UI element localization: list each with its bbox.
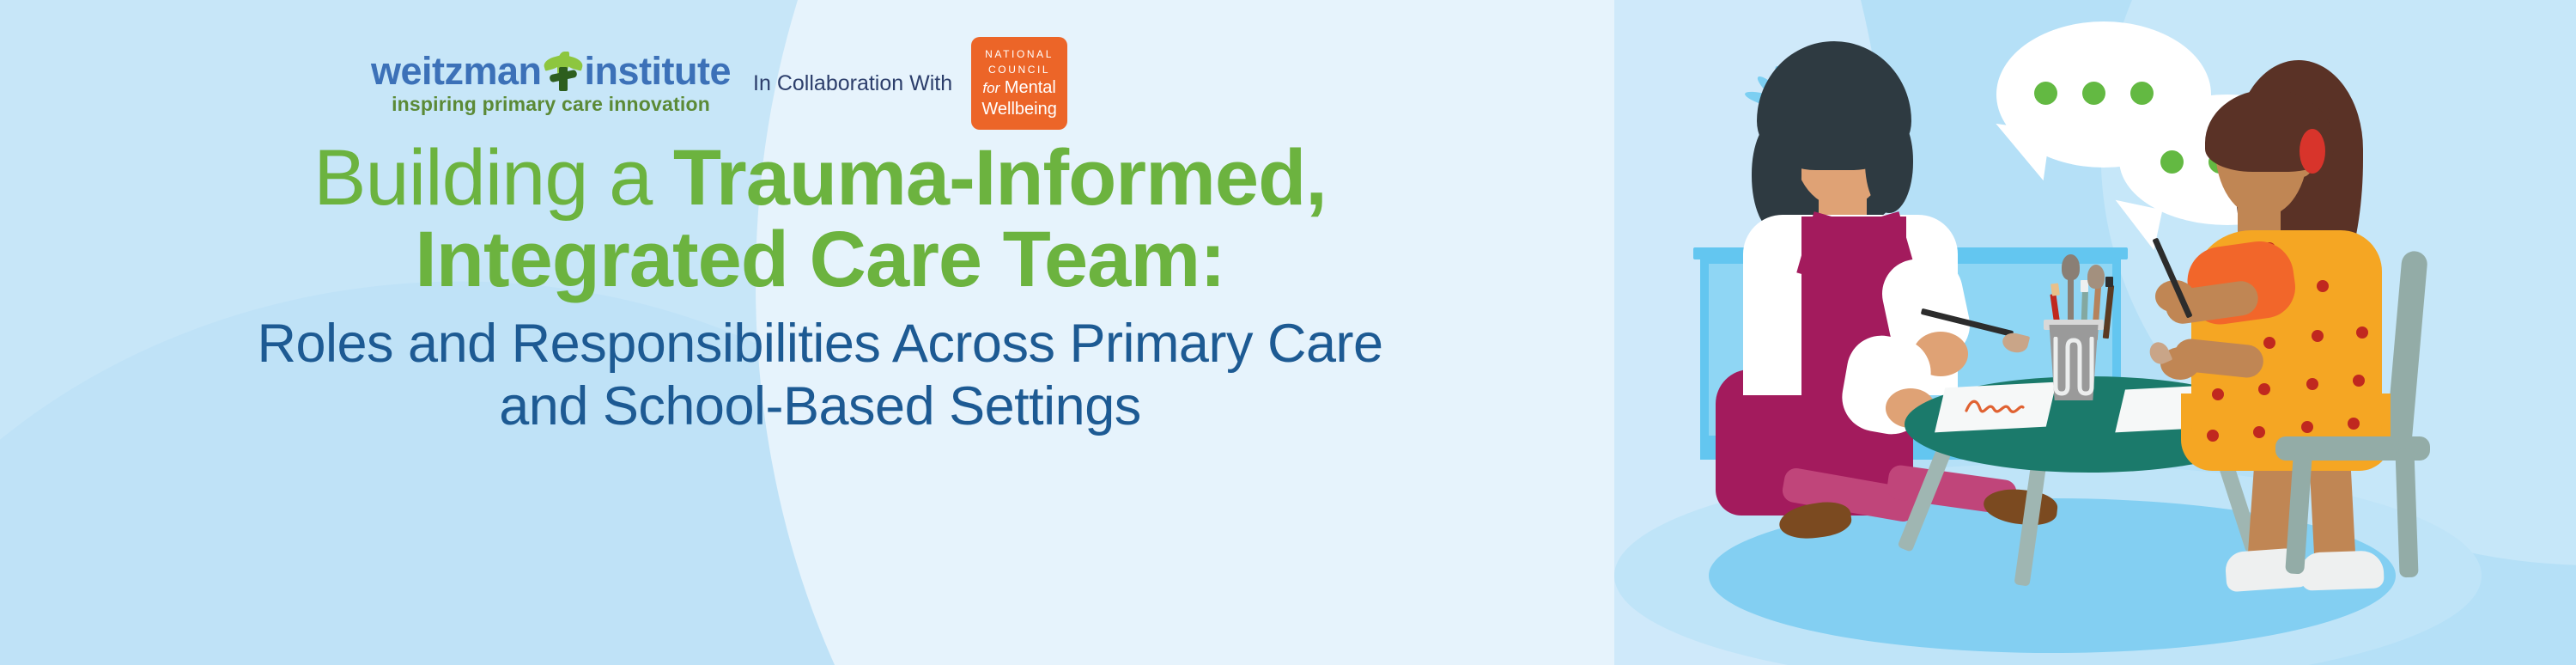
girl-hair-tie <box>2300 129 2325 174</box>
girl-dress-dot <box>2263 337 2275 349</box>
girl-dress-dot <box>2348 418 2360 430</box>
weitzman-institute-logo[interactable]: weitzman institute inspiring primary car… <box>371 52 731 116</box>
girl-dress-dot <box>2312 330 2324 342</box>
girl-dress-dot <box>2353 375 2365 387</box>
headline-line-1: Building a Trauma-Informed, <box>52 137 1589 219</box>
headline-bold: Trauma-Informed, <box>673 134 1327 222</box>
brush-tan-tip <box>2087 265 2105 289</box>
collaboration-label: In Collaboration With <box>753 71 952 96</box>
speech-bubble-dot <box>2082 82 2105 105</box>
girl-dress-dot <box>2317 280 2329 292</box>
nc-mental: Mental <box>1005 78 1056 97</box>
pencil-brown-tip <box>2105 277 2113 287</box>
speech-bubble-dot <box>2034 82 2057 105</box>
girl-dress-dot <box>2356 326 2368 339</box>
girl-dress-dot <box>2212 388 2224 400</box>
child-drawing-squiggle <box>1965 397 2025 416</box>
institute-word: institute <box>585 52 732 90</box>
girl-dress-dot <box>2306 378 2318 390</box>
headline-line-2: Integrated Care Team: <box>52 219 1589 301</box>
girl-dress-dot <box>2207 430 2219 442</box>
pencil-red-tip <box>2050 283 2060 296</box>
nc-line-national: NATIONAL <box>985 47 1054 62</box>
headline-block: Building a Trauma-Informed, Integrated C… <box>52 137 1589 439</box>
subtitle-line-2: and School-Based Settings <box>52 375 1589 439</box>
speech-bubble-dot <box>2160 150 2184 174</box>
girl-dress-dot <box>2253 426 2265 438</box>
weitzman-word: weitzman <box>371 52 542 90</box>
woman-hair-lock-right <box>1865 112 1913 213</box>
nc-line-for-mental: for Mental <box>982 77 1055 99</box>
nc-line-council: COUNCIL <box>988 63 1050 77</box>
weitzman-wordmark: weitzman institute <box>371 52 731 91</box>
girl-shoe-back <box>2300 550 2384 590</box>
headline-regular: Building a <box>313 134 673 222</box>
sprout-trunk <box>559 67 568 91</box>
brush-gray-tip <box>2062 254 2080 280</box>
speech-bubble-dot <box>2130 82 2154 105</box>
weitzman-tagline: inspiring primary care innovation <box>371 93 731 116</box>
banner-root: weitzman institute inspiring primary car… <box>0 0 2576 665</box>
pencil-cup-pattern <box>2050 337 2097 397</box>
logo-row: weitzman institute inspiring primary car… <box>371 36 1067 131</box>
national-council-logo[interactable]: NATIONAL COUNCIL for Mental Wellbeing <box>971 37 1067 130</box>
subtitle-line-1: Roles and Responsibilities Across Primar… <box>52 313 1589 376</box>
tree-sprout-icon <box>544 52 583 91</box>
illustration-panel <box>1614 0 2576 665</box>
girl-dress-dot <box>2301 421 2313 433</box>
girl-dress-dot <box>2258 383 2270 395</box>
nc-for-italic: for <box>982 80 999 96</box>
nc-line-wellbeing: Wellbeing <box>981 99 1056 119</box>
